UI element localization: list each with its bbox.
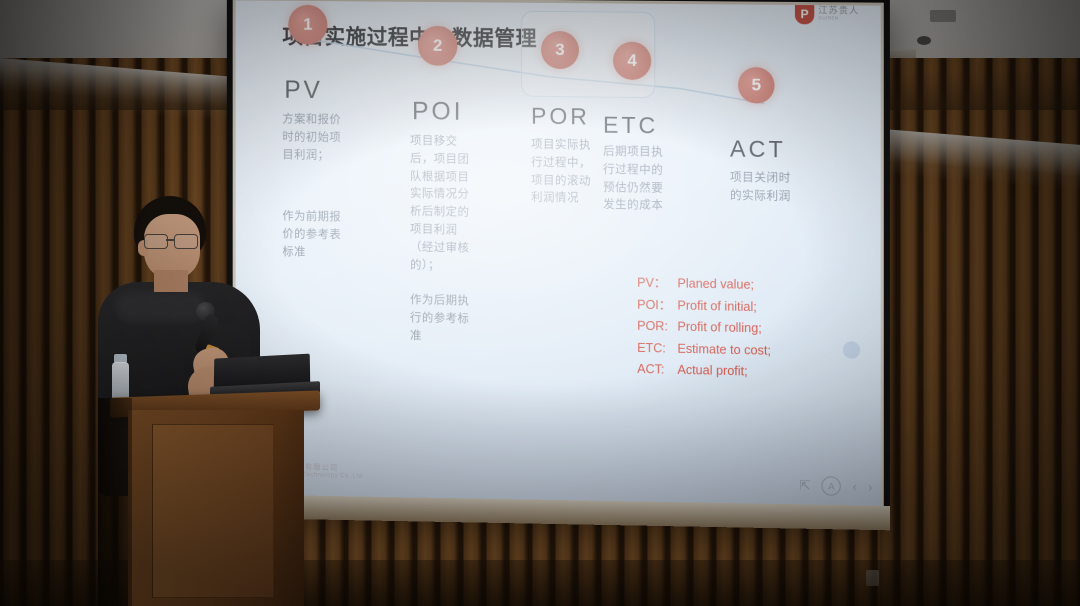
wall-right-shadow — [880, 0, 1080, 606]
node-act-number[interactable]: 5 — [738, 67, 775, 104]
annotate-icon[interactable]: A — [822, 476, 841, 496]
legend-key: POI： — [637, 294, 677, 316]
node-pv-number[interactable]: 1 — [288, 5, 327, 45]
node-pv-code: PV — [284, 76, 323, 105]
slide-controls: ⇱ A ‹ › — [799, 476, 872, 497]
legend-row: ACT: Actual profit; — [637, 359, 771, 384]
next-slide-icon[interactable]: › — [868, 480, 872, 493]
projection-screen-frame: 项目实施过程中的数据管理 P 江苏贵人 GUIREN — [227, 0, 890, 528]
legend-value: Planed value; — [677, 273, 754, 296]
node-etc-number[interactable]: 4 — [613, 42, 651, 81]
podium-front-panel — [152, 424, 274, 598]
legend-row: POI： Profit of initial; — [637, 294, 771, 318]
podium-side-shadow — [98, 398, 132, 606]
node-pv-desc2: 作为前期报价的参考表标准 — [282, 208, 351, 262]
glasses-icon — [144, 234, 200, 247]
glasses-right-lens — [174, 234, 198, 249]
presenter-shoulder-highlight — [116, 292, 206, 322]
projection-screen: 项目实施过程中的数据管理 P 江苏贵人 GUIREN — [236, 0, 881, 518]
company-logo: P 江苏贵人 GUIREN — [795, 3, 859, 25]
node-poi-desc: 项目移交后，项目团队根据项目实际情况分析后制定的项目利润（经过审核的）； — [410, 133, 479, 276]
node-por-number[interactable]: 3 — [541, 31, 579, 69]
node-act-desc: 项目关闭时的实际利润 — [730, 170, 795, 207]
logo-subtitle: GUIREN — [818, 16, 859, 21]
node-etc-desc: 后期项目执行过程中的预估仍然要发生的成本 — [603, 144, 669, 216]
legend-row: ETC: Estimate to cost; — [637, 337, 771, 362]
prev-slide-icon[interactable]: ‹ — [852, 480, 856, 493]
slide-content: 项目实施过程中的数据管理 P 江苏贵人 GUIREN — [236, 0, 881, 518]
legend-row: PV： Planed value; — [637, 273, 771, 297]
node-poi-desc2: 作为后期执行的参考标准 — [410, 292, 479, 347]
legend-value: Profit of initial; — [677, 295, 756, 318]
legend-value: Profit of rolling; — [677, 317, 761, 340]
glasses-left-lens — [144, 234, 168, 249]
legend-value: Actual profit; — [677, 360, 747, 383]
legend-abbreviations: PV： Planed value; POI： Profit of initial… — [637, 273, 771, 384]
logo-text: 江苏贵人 GUIREN — [818, 7, 859, 22]
glasses-bridge — [166, 239, 174, 241]
node-poi-number[interactable]: 2 — [418, 26, 458, 66]
node-por-desc: 项目实际执行过程中，项目的滚动利润情况 — [531, 137, 597, 209]
legend-value: Estimate to cost; — [677, 338, 771, 362]
watermark-dot — [843, 341, 860, 359]
presentation-room-photo: 项目实施过程中的数据管理 P 江苏贵人 GUIREN — [0, 0, 1080, 606]
node-por-code: POR — [531, 103, 590, 131]
presenter-neck — [154, 270, 188, 292]
legend-key: ETC: — [637, 337, 677, 359]
node-etc-code: ETC — [603, 112, 658, 140]
node-poi-code: POI — [412, 97, 464, 127]
legend-key: ACT: — [637, 359, 677, 382]
node-act-code: ACT — [730, 135, 786, 163]
legend-key: PV： — [637, 273, 677, 295]
projection-screen-mat: 项目实施过程中的数据管理 P 江苏贵人 GUIREN — [233, 0, 884, 521]
legend-row: POR: Profit of rolling; — [637, 316, 771, 340]
share-icon[interactable]: ⇱ — [799, 479, 810, 492]
legend-key: POR: — [637, 316, 677, 338]
node-pv-desc: 方案和报价时的初始项目利润； — [282, 112, 351, 166]
logo-badge-icon: P — [795, 3, 814, 24]
